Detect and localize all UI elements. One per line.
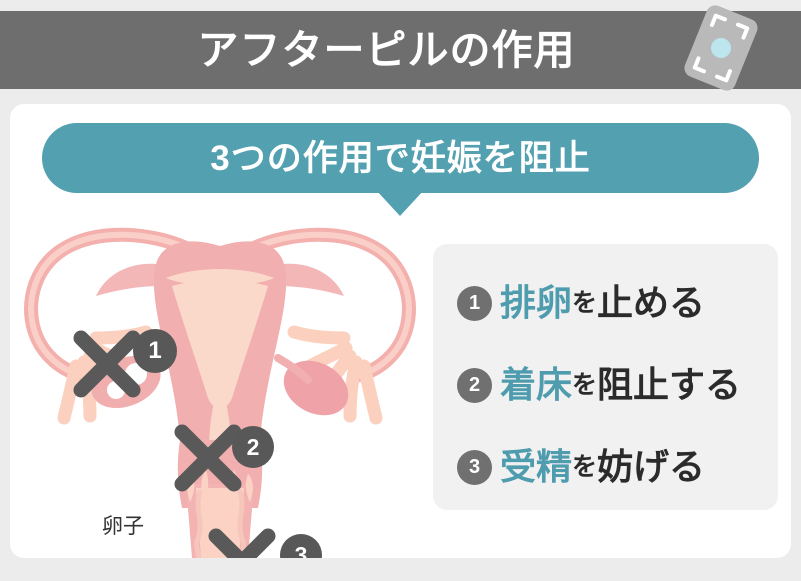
banner: 3つの作用で妊娠を阻止 bbox=[42, 123, 759, 193]
effect-badge-2: 2 bbox=[457, 368, 492, 403]
effect-badge-1: 1 bbox=[457, 286, 492, 321]
marker-badge-1: 1 bbox=[133, 329, 177, 373]
page-title: アフターピルの作用 bbox=[198, 30, 576, 71]
effect-action-3: 妨げる bbox=[597, 449, 705, 485]
banner-text: 3つの作用で妊娠を阻止 bbox=[210, 141, 590, 176]
uterus-diagram bbox=[10, 216, 430, 558]
content-card: 3つの作用で妊娠を阻止 bbox=[10, 104, 791, 558]
effect-item-1: 1 排卵 を 止める bbox=[433, 262, 778, 344]
effect-particle-1: を bbox=[572, 291, 597, 316]
effect-key-1: 排卵 bbox=[500, 285, 572, 321]
effect-key-2: 着床 bbox=[500, 367, 572, 403]
effects-panel: 1 排卵 を 止める 2 着床 を 阻止する 3 受精 を 妨げる bbox=[433, 244, 778, 510]
effect-action-2: 阻止する bbox=[597, 367, 741, 403]
banner-pointer-triangle bbox=[376, 190, 424, 216]
pill-tablet-icon bbox=[678, 2, 764, 94]
effect-item-2: 2 着床 を 阻止する bbox=[433, 344, 778, 426]
effect-particle-2: を bbox=[572, 373, 597, 398]
effect-badge-3: 3 bbox=[457, 450, 492, 485]
effect-item-3: 3 受精 を 妨げる bbox=[433, 426, 778, 508]
label-egg: 卵子 bbox=[102, 516, 144, 537]
effect-key-3: 受精 bbox=[500, 449, 572, 485]
effect-action-1: 止める bbox=[597, 285, 705, 321]
effect-particle-3: を bbox=[572, 455, 597, 480]
marker-badge-2: 2 bbox=[232, 426, 274, 468]
